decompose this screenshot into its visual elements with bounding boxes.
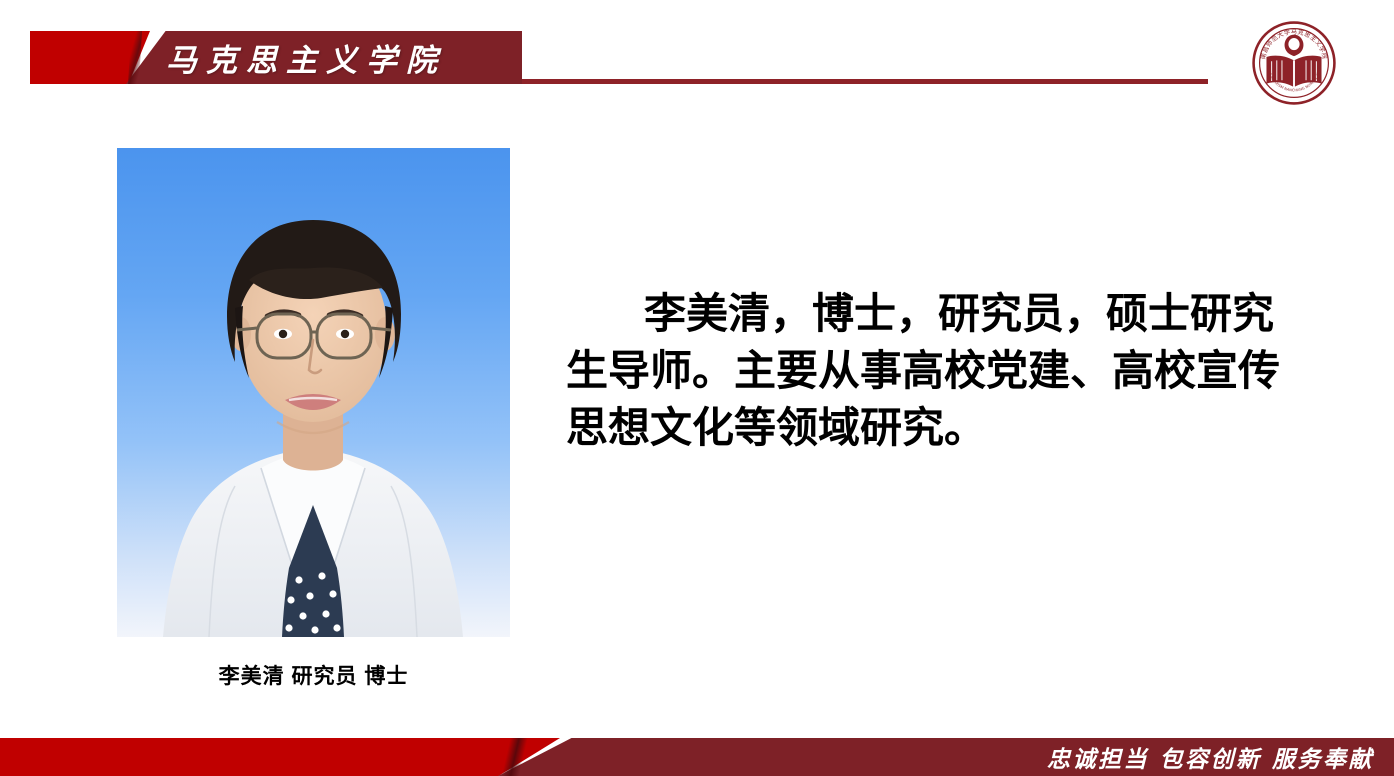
footer-banner-bright-wedge <box>0 738 560 776</box>
portrait-caption: 李美清 研究员 博士 <box>117 660 510 690</box>
header-horizontal-rule <box>522 79 1208 84</box>
bio-paragraph: 李美清，博士，研究员，硕士研究生导师。主要从事高校党建、高校宣传思想文化等领域研… <box>566 285 1310 456</box>
header-banner-title: 马克思主义学院 <box>30 31 522 84</box>
footer-slogan: 忠诚担当 包容创新 服务奉献 <box>1047 738 1374 776</box>
university-seal-icon: 南昌师范大学马克思主义学院 SCHOOL OF MARXISM NANCHANG… <box>1251 20 1337 106</box>
person-portrait-photo <box>117 148 510 637</box>
footer-banner: 忠诚担当 包容创新 服务奉献 <box>0 738 1394 776</box>
header-banner: 马克思主义学院 <box>30 31 522 84</box>
